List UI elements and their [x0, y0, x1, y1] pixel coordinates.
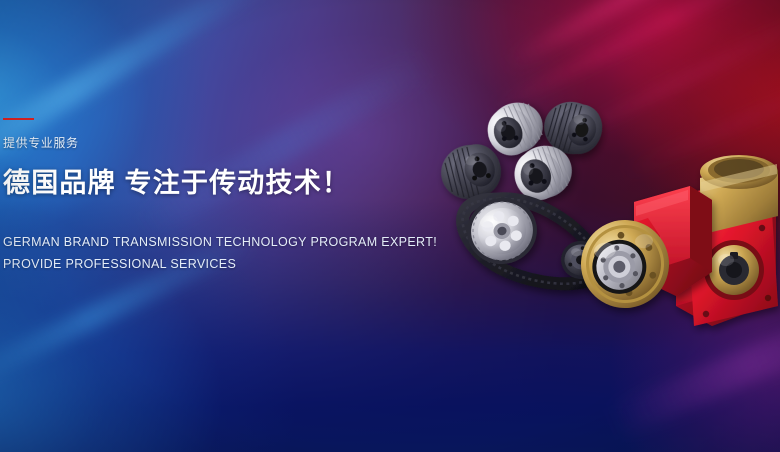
headline-block: 提供专业服务 德国品牌 专注于传动技术！ GERMAN BRAND TRANSM… [2, 118, 432, 275]
promo-banner: 提供专业服务 德国品牌 专注于传动技术！ GERMAN BRAND TRANSM… [0, 0, 780, 452]
accent-rule [3, 118, 34, 120]
subline-primary: GERMAN BRAND TRANSMISSION TECHNOLOGY PRO… [3, 232, 432, 254]
kicker-text: 提供专业服务 [3, 137, 432, 149]
page-title: 德国品牌 专注于传动技术！ [3, 168, 432, 198]
subline-secondary: PROVIDE PROFESSIONAL SERVICES [3, 254, 432, 276]
